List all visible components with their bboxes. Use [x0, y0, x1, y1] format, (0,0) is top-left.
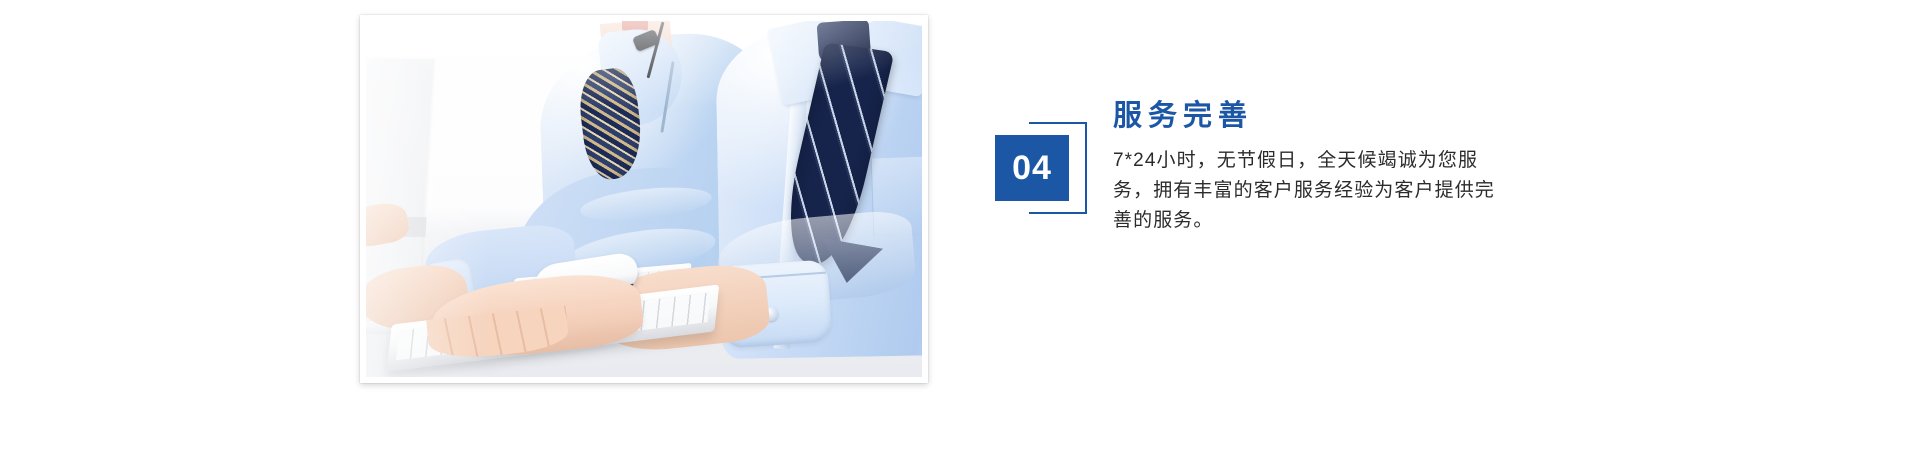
badge-filled-square: 04: [995, 135, 1069, 201]
page-root: 04 服务完善 7*24小时，无节假日，全天候竭诚为您服务，拥有丰富的客户服务经…: [0, 0, 1920, 452]
feature-description: 7*24小时，无节假日，全天候竭诚为您服务，拥有丰富的客户服务经验为客户提供完善…: [1113, 146, 1513, 236]
feature-title: 服务完善: [1113, 100, 1533, 133]
feature-text-column: 服务完善 7*24小时，无节假日，全天候竭诚为您服务，拥有丰富的客户服务经验为客…: [1113, 100, 1533, 236]
feature-number-badge: 04: [995, 122, 1091, 214]
customer-service-photo: [366, 21, 922, 377]
feature-photo-card: [360, 15, 928, 383]
feature-number: 04: [1012, 151, 1052, 185]
